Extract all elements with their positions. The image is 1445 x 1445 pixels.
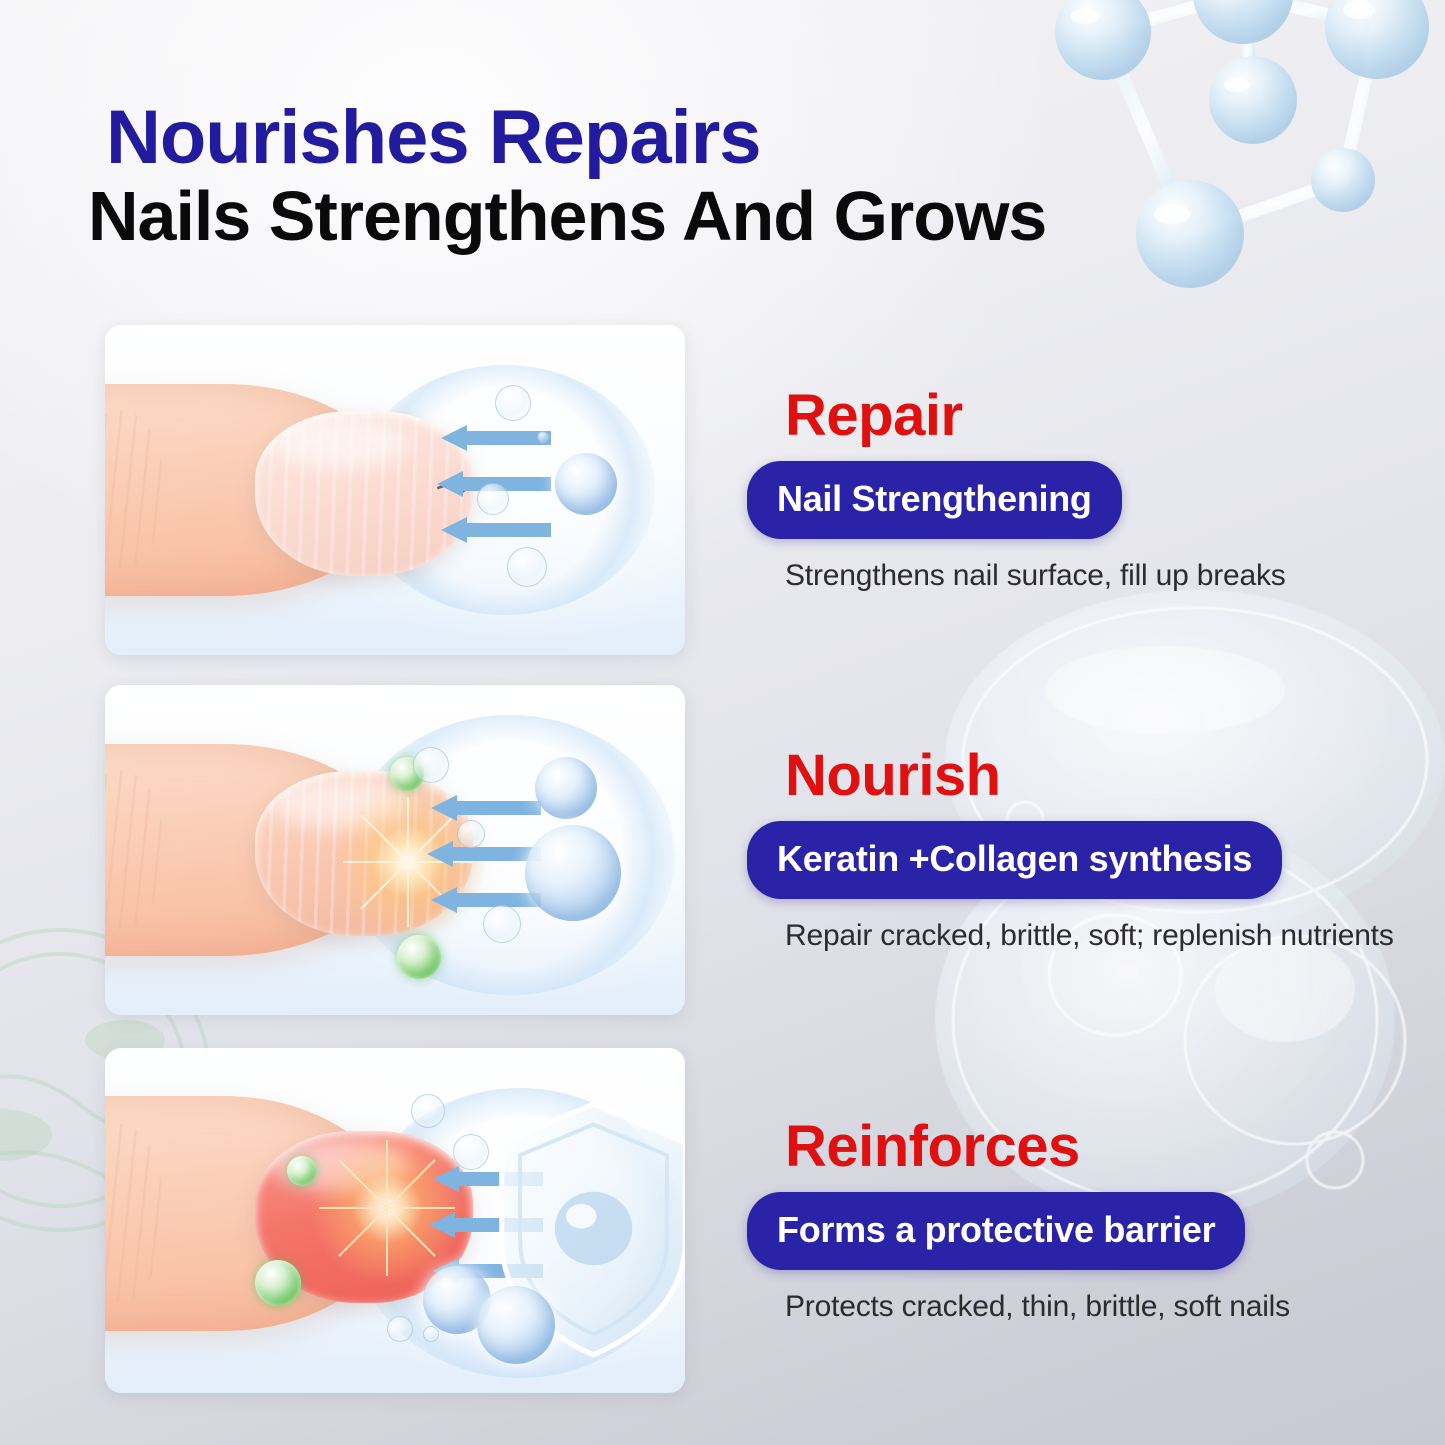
feature-kicker: Reinforces <box>785 1118 1405 1176</box>
feature-caption: Repair cracked, brittle, soft; replenish… <box>785 919 1405 953</box>
keratin-capsule-icon <box>255 1260 301 1306</box>
cracked-nail-illustration <box>105 325 685 655</box>
feature-pill[interactable]: Nail Strengthening <box>747 461 1122 539</box>
feature-caption: Strengthens nail surface, fill up breaks <box>785 559 1405 593</box>
product-infographic: Nourishes Repairs Nails Strengthens And … <box>0 0 1445 1445</box>
feature-row: Reinforces Forms a protective barrier Pr… <box>0 1048 1445 1393</box>
feature-text: Nourish Keratin +Collagen synthesis Repa… <box>685 747 1445 953</box>
feature-pill[interactable]: Keratin +Collagen synthesis <box>747 821 1282 899</box>
feature-text: Reinforces Forms a protective barrier Pr… <box>685 1118 1445 1324</box>
feature-pill[interactable]: Forms a protective barrier <box>747 1192 1245 1270</box>
feature-caption: Protects cracked, thin, brittle, soft na… <box>785 1290 1405 1324</box>
sparkle-icon <box>323 777 493 947</box>
feature-text: Repair Nail Strengthening Strengthens na… <box>685 387 1445 593</box>
feature-kicker: Repair <box>785 387 1405 445</box>
feature-row: Nourish Keratin +Collagen synthesis Repa… <box>0 685 1445 1015</box>
headline-line-2: Nails Strengthens And Grows <box>88 180 1208 254</box>
shielded-nail-illustration <box>105 1048 685 1393</box>
sparkle-icon <box>305 1126 470 1291</box>
nail-illustration <box>255 411 473 576</box>
feature-kicker: Nourish <box>785 747 1405 805</box>
keratin-capsule-icon <box>287 1156 317 1186</box>
headline-line-1: Nourishes Repairs <box>106 100 1208 176</box>
nourished-nail-illustration <box>105 685 685 1015</box>
feature-row: Repair Nail Strengthening Strengthens na… <box>0 325 1445 655</box>
headline: Nourishes Repairs Nails Strengthens And … <box>88 100 1208 254</box>
keratin-capsule-icon <box>397 935 441 979</box>
